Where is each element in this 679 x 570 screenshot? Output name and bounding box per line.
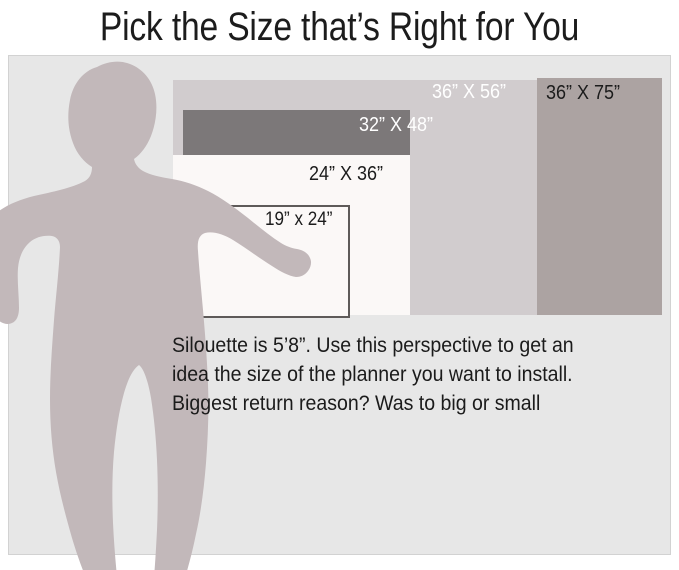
description-line-3: Biggest return reason? Was to big or sma… <box>172 389 628 418</box>
size-label-19x24: 19” x 24” <box>265 209 332 231</box>
page-title: Pick the Size that’s Right for You <box>54 0 624 54</box>
person-silhouette <box>0 55 360 570</box>
description-line-2: idea the size of the planner you want to… <box>172 360 628 389</box>
description-text: Silouette is 5’8”. Use this perspective … <box>172 331 628 418</box>
size-label-24x36: 24” X 36” <box>309 163 383 186</box>
description-line-1: Silouette is 5’8”. Use this perspective … <box>172 331 628 360</box>
size-label-32x48: 32” X 48” <box>359 114 433 137</box>
diagram-canvas: Pick the Size that’s Right for You 36” X… <box>0 0 679 570</box>
size-label-36x75: 36” X 75” <box>546 82 620 105</box>
size-label-36x56: 36” X 56” <box>432 81 506 104</box>
size-rect-36x75[interactable] <box>537 78 662 315</box>
